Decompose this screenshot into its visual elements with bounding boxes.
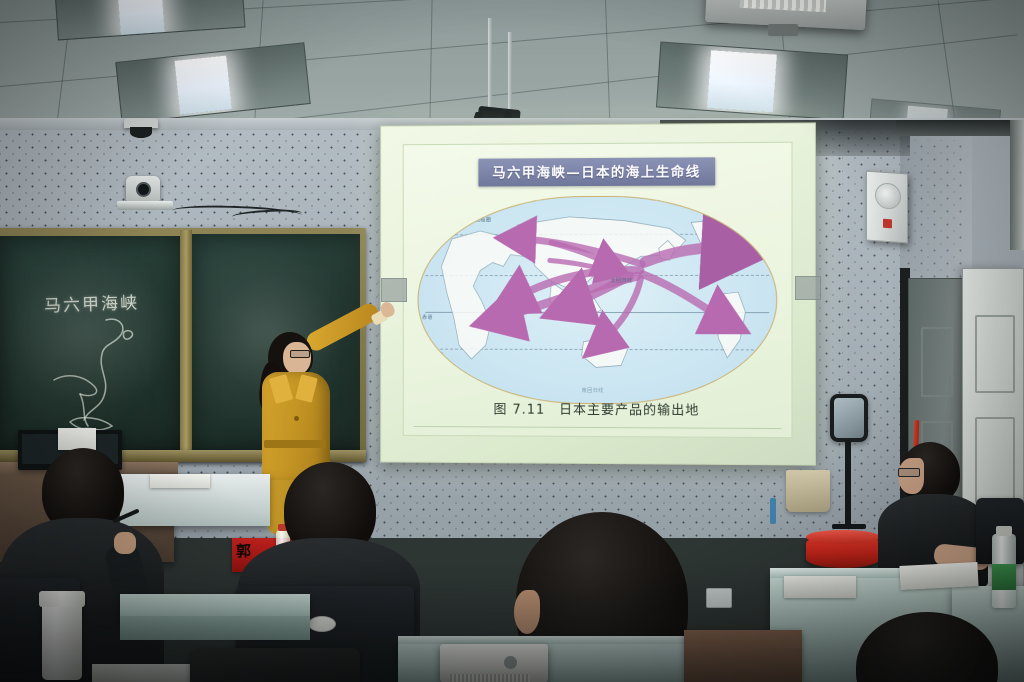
arrow-japan-to-north-america — [644, 248, 731, 263]
door-white-panel-upper — [975, 315, 1015, 393]
map-label-bottom: 南回归线 — [582, 386, 604, 393]
door-panel-upper — [921, 327, 953, 397]
blackboard-sketch — [40, 314, 170, 444]
podium-paper — [58, 428, 96, 450]
map-label-arctic-circle: 北极圈 — [475, 216, 491, 223]
ceiling-projector-mount — [768, 24, 798, 36]
arrow-japan-to-south-america — [643, 274, 726, 320]
water-bottle-cap — [996, 526, 1012, 536]
speaker-cone — [875, 182, 901, 210]
slide: 马六甲海峡—日本的海上生命线 — [403, 142, 793, 438]
ptz-camera-base — [117, 201, 173, 210]
speaker-led — [883, 219, 892, 229]
slide-title-bar: 马六甲海峡—日本的海上生命线 — [478, 157, 714, 186]
door-frame-right — [1010, 120, 1024, 250]
slide-caption: 图 7.11 日本主要产品的输出地 — [404, 398, 792, 419]
observer-left-hand — [114, 532, 136, 554]
observer-right-glasses — [898, 468, 920, 477]
ceiling-light-panel-1 — [54, 0, 245, 40]
slide-rule — [414, 426, 782, 429]
blackboard-left-panel: 马六甲海峡 — [0, 236, 182, 450]
map-label-tropic-cancer: 北回归线 — [610, 277, 632, 284]
screen-mount-rod-right — [508, 32, 512, 114]
trade-route-arrows — [418, 196, 776, 404]
teacher-face — [283, 342, 311, 375]
teacher-coat-belt — [264, 440, 326, 448]
ceiling-light-panel-3 — [656, 42, 848, 121]
red-basin-rim — [806, 530, 880, 544]
wall-speaker — [866, 171, 908, 244]
classroom-photo: 马六甲海峡 马六甲海峡—日本的海上生命线 — [0, 0, 1024, 682]
ceiling-light-panel-2 — [115, 42, 310, 124]
screen-mount-rod-left — [488, 18, 492, 114]
teacher-glasses — [290, 350, 310, 358]
door-frame-top — [896, 120, 1024, 136]
slide-title: 马六甲海峡—日本的海上生命线 — [492, 164, 700, 181]
blackboard-divider — [180, 230, 192, 454]
mirror-stand-foot — [832, 524, 866, 529]
teacher-coat-button — [294, 416, 299, 421]
map-label-equator: 赤道 — [422, 314, 433, 321]
mirror — [830, 394, 868, 442]
mirror-stand — [845, 440, 851, 526]
projection-screen: 马六甲海峡—日本的海上生命线 — [380, 122, 816, 465]
dome-camera-lens — [130, 127, 152, 138]
world-map-oval: 北极圈 北回归线 赤道 南回归线 南回归线 — [418, 195, 778, 405]
mop-hook — [770, 498, 776, 524]
blackboard-chalk-text: 马六甲海峡 — [44, 288, 140, 316]
screen-marker-right — [795, 276, 821, 300]
slide-map: 北极圈 北回归线 赤道 南回归线 南回归线 — [418, 195, 778, 405]
ptz-camera-lens — [136, 182, 151, 197]
map-label-tropic-capricorn: 南回归线 — [422, 351, 444, 358]
foreground-shadow — [0, 562, 1024, 682]
hanging-towel — [786, 470, 830, 512]
screen-marker-left — [381, 278, 407, 302]
